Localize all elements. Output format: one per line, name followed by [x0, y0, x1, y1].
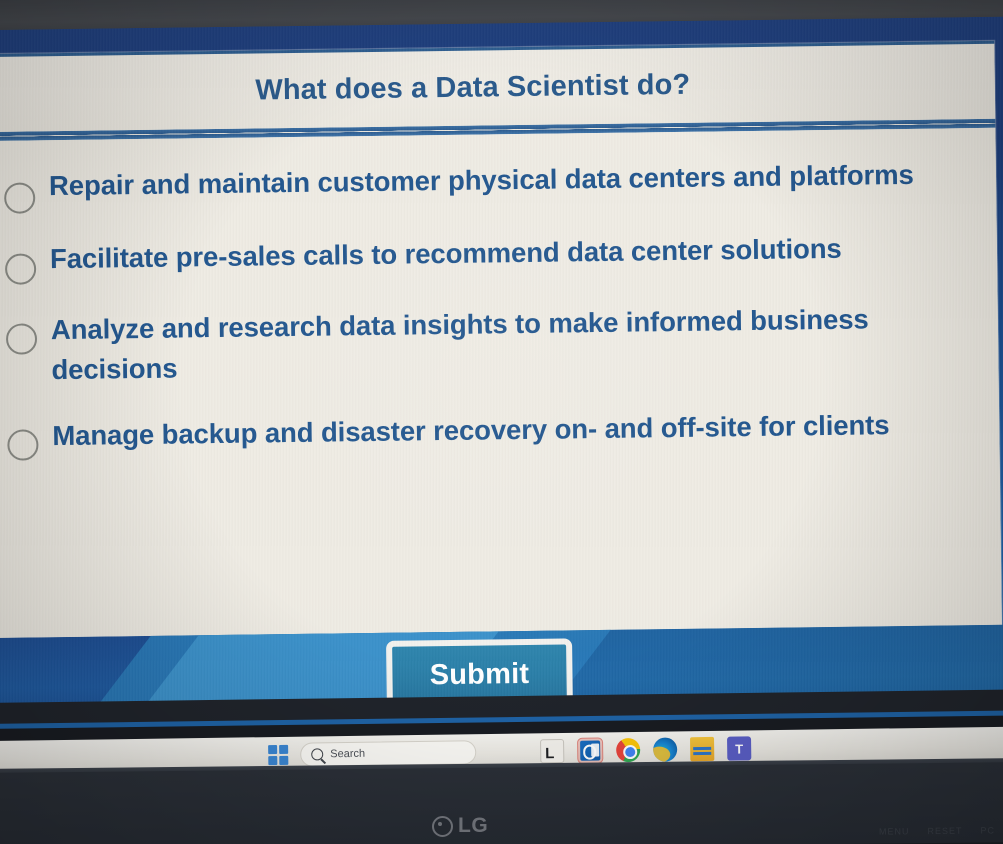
radio-button-3[interactable] [6, 323, 37, 354]
page-title: What does a Data Scientist do? [255, 68, 720, 107]
osd-menu-label: MENU [879, 826, 910, 836]
option-row-2[interactable]: Facilitate pre-sales calls to recommend … [5, 227, 958, 284]
l-app-icon[interactable]: L [540, 739, 564, 763]
osd-reset-label: RESET [927, 826, 962, 836]
option-label-4: Manage backup and disaster recovery on- … [52, 405, 890, 456]
screen-area: What does a Data Scientist do? Repair an… [0, 16, 1003, 729]
radio-button-1[interactable] [4, 182, 35, 213]
option-row-3[interactable]: Analyze and research data insights to ma… [6, 298, 959, 390]
edge-icon[interactable] [653, 737, 677, 761]
monitor-photo: What does a Data Scientist do? Repair an… [0, 0, 1003, 844]
radio-button-2[interactable] [5, 253, 36, 284]
teams-icon[interactable]: T [727, 736, 751, 760]
lg-brand-text: LG [458, 814, 488, 838]
option-row-4[interactable]: Manage backup and disaster recovery on- … [7, 404, 959, 460]
outlook-icon-active-highlight[interactable] [577, 737, 603, 763]
option-label-1: Repair and maintain customer physical da… [49, 155, 914, 206]
option-label-2: Facilitate pre-sales calls to recommend … [50, 229, 842, 279]
search-placeholder: Search [330, 748, 365, 760]
monitor-bottom-bezel [0, 762, 1003, 844]
radio-button-4[interactable] [7, 429, 38, 460]
windows-start-icon[interactable] [268, 745, 288, 765]
question-card: What does a Data Scientist do? Repair an… [0, 41, 1002, 638]
outlook-icon[interactable] [580, 740, 600, 760]
taskbar-app-icons: L T [540, 735, 751, 764]
osd-pc-label: PC [980, 825, 995, 835]
search-input[interactable]: Search [300, 740, 476, 766]
search-icon [311, 748, 323, 760]
option-label-3: Analyze and research data insights to ma… [51, 299, 932, 390]
question-header: What does a Data Scientist do? [0, 41, 995, 132]
options-list: Repair and maintain customer physical da… [0, 128, 1002, 638]
folder-app-icon[interactable] [690, 737, 714, 761]
lg-circle-icon [432, 816, 453, 837]
monitor-osd-labels: MENU RESET PC [879, 825, 995, 836]
option-row-1[interactable]: Repair and maintain customer physical da… [4, 154, 957, 213]
lg-brand-logo: LG [432, 814, 488, 838]
chrome-icon[interactable] [616, 738, 640, 762]
